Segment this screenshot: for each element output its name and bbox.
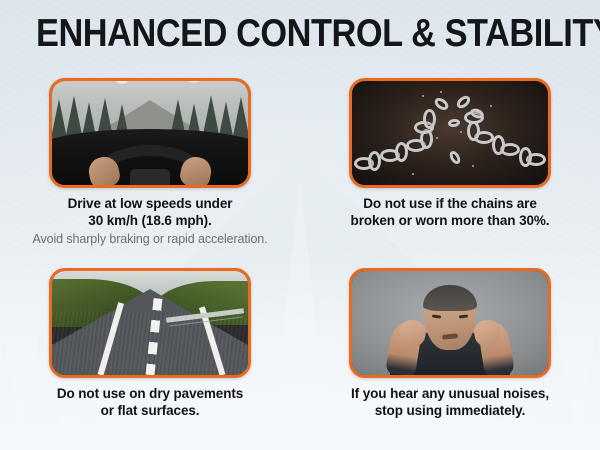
debris-particle	[472, 165, 474, 167]
panel-broken-chains: Do not use if the chains are broken or w…	[300, 72, 600, 262]
infographic-card: ENHANCED CONTROL & STABILITY	[0, 0, 600, 450]
panel-caption: Do not use on dry pavements or flat surf…	[4, 386, 296, 419]
debris-particle	[490, 105, 492, 107]
caption-line-1: Drive at low speeds under	[4, 196, 296, 213]
debris-particle	[422, 95, 424, 97]
debris-particle	[460, 131, 462, 133]
panel-unusual-noises: If you hear any unusual noises, stop usi…	[300, 262, 600, 450]
chain-link	[519, 147, 532, 167]
panel-low-speed: Drive at low speeds under 30 km/h (18.6 …	[0, 72, 300, 262]
debris-particle	[440, 91, 442, 93]
photo-dry-asphalt-road	[49, 268, 251, 378]
photo-man-covering-ears	[349, 268, 551, 378]
chain-link	[423, 109, 436, 129]
photo-driver-pov-snowy-road	[49, 78, 251, 188]
debris-particle	[436, 137, 438, 139]
photo-broken-chain	[349, 78, 551, 188]
caption-line-2: stop using immediately.	[304, 403, 596, 420]
chain-link	[467, 121, 480, 141]
caption-line-2: or flat surfaces.	[4, 403, 296, 420]
panel-dry-pavement: Do not use on dry pavements or flat surf…	[0, 262, 300, 450]
panel-caption: Do not use if the chains are broken or w…	[304, 196, 596, 229]
debris-particle	[412, 173, 414, 175]
panel-grid: Drive at low speeds under 30 km/h (18.6 …	[0, 72, 600, 450]
caption-line-2: broken or worn more than 30%.	[304, 213, 596, 230]
chain-backdrop	[352, 81, 548, 185]
page-title: ENHANCED CONTROL & STABILITY	[36, 12, 564, 56]
caption-line-1: Do not use if the chains are	[304, 196, 596, 213]
caption-line-2: 30 km/h (18.6 mph).	[4, 213, 296, 230]
panel-caption: If you hear any unusual noises, stop usi…	[304, 386, 596, 419]
caption-line-1: If you hear any unusual noises,	[304, 386, 596, 403]
man-eye-left	[432, 314, 441, 318]
panel-caption: Drive at low speeds under 30 km/h (18.6 …	[4, 196, 296, 229]
panel-subcaption: Avoid sharply braking or rapid accelerat…	[0, 232, 300, 247]
caption-line-1: Do not use on dry pavements	[4, 386, 296, 403]
